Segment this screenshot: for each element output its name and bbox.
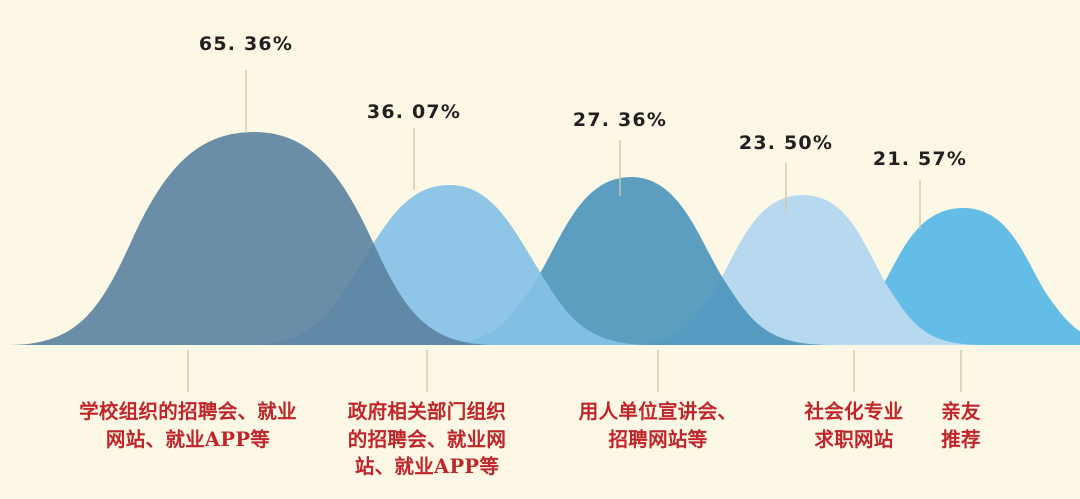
ridgeline-chart: 65. 36% 36. 07% 27. 36% 23. 50% 21. 57% … xyxy=(0,0,1080,499)
category-label-2: 政府相关部门组织 的招聘会、就业网 站、就业APP等 xyxy=(312,398,542,481)
category-label-1: 学校组织的招聘会、就业 网站、就业APP等 xyxy=(38,398,338,453)
value-label-1: 65. 36% xyxy=(199,33,293,55)
category-label-5: 亲友 推荐 xyxy=(906,398,1016,453)
value-label-2: 36. 07% xyxy=(367,101,461,123)
value-label-5: 21. 57% xyxy=(873,148,967,170)
value-label-3: 27. 36% xyxy=(573,109,667,131)
category-label-3: 用人单位宣讲会、 招聘网站等 xyxy=(553,398,763,453)
value-label-4: 23. 50% xyxy=(739,132,833,154)
